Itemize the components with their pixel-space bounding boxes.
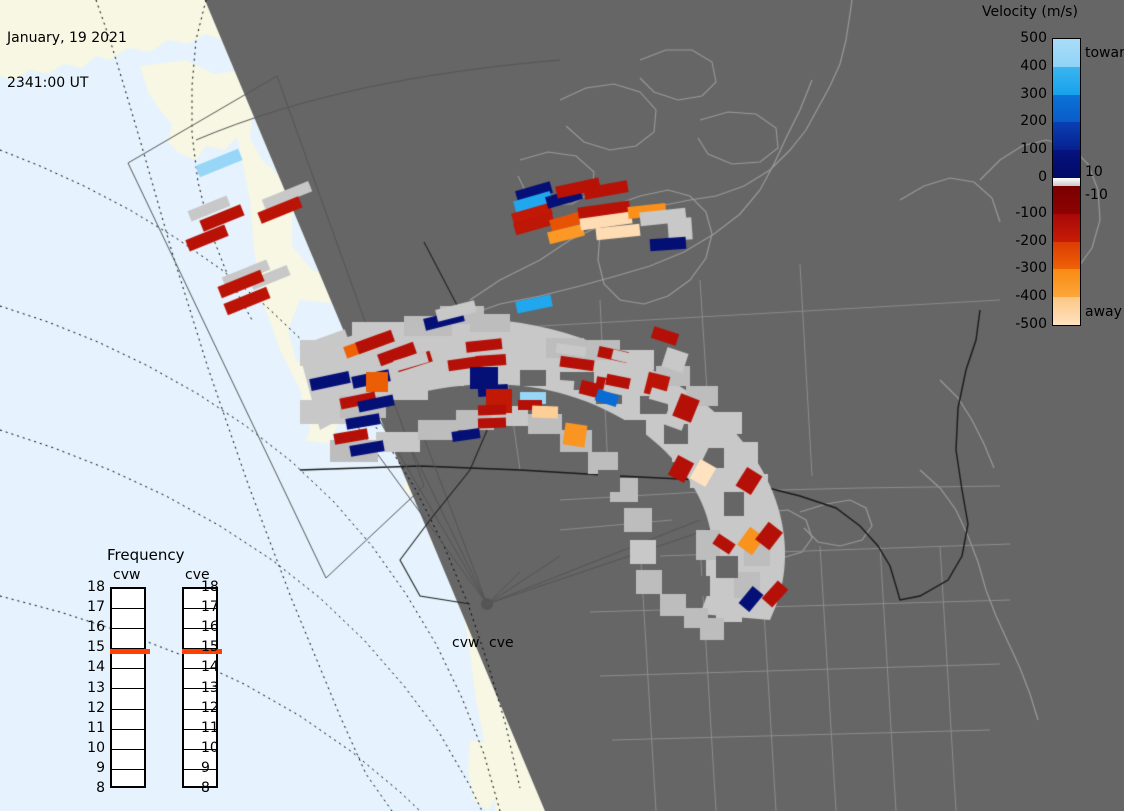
colorbar-band--400-to--300 — [1053, 269, 1080, 297]
frequency-cell — [112, 770, 144, 790]
frequency-tick-left-12: 12 — [87, 701, 105, 715]
colorbar-band-10-to-100 — [1053, 150, 1080, 178]
colorbar-tick-400: 400 — [989, 59, 1047, 73]
frequency-marker-cvw — [110, 649, 150, 654]
frequency-cell — [112, 730, 144, 750]
colorbar-tick-300: 300 — [989, 87, 1047, 101]
colorbar-tick-100: 100 — [989, 142, 1047, 156]
colorbar-band-400-to-500 — [1053, 39, 1080, 67]
colorbar-tick--400: -400 — [989, 289, 1047, 303]
frequency-cell — [112, 750, 144, 770]
colorbar-band-100-to-200 — [1053, 122, 1080, 150]
frequency-tick-right-18: 18 — [201, 580, 219, 594]
frequency-legend-title: Frequency — [107, 546, 185, 564]
frequency-tick-right-9: 9 — [201, 761, 210, 775]
frequency-legend: Frequency cvw cve 18171615141312111098 1… — [85, 546, 235, 781]
frequency-tick-right-14: 14 — [201, 660, 219, 674]
radar-site-label-cvw[interactable]: cvw — [452, 636, 479, 650]
frequency-tick-right-8: 8 — [201, 781, 210, 795]
frequency-cell — [112, 609, 144, 629]
frequency-cell — [184, 770, 216, 790]
colorbar-band-300-to-400 — [1053, 67, 1080, 95]
frequency-tick-right-13: 13 — [201, 681, 219, 695]
colorbar-band--500-to--400 — [1053, 297, 1080, 325]
colorbar-title: Velocity (m/s) — [982, 4, 1124, 20]
colorbar-tick--200: -200 — [989, 234, 1047, 248]
colorbar-tick--500: -500 — [989, 317, 1047, 331]
colorbar-band-200-to-300 — [1053, 95, 1080, 123]
frequency-cell — [112, 589, 144, 609]
timestamp-date: January, 19 2021 — [7, 31, 127, 46]
frequency-tick-right-11: 11 — [201, 721, 219, 735]
colorbar-positive-threshold-label: 10 — [1085, 165, 1103, 179]
frequency-cell — [112, 690, 144, 710]
frequency-cell — [112, 710, 144, 730]
frequency-tick-left-17: 17 — [87, 600, 105, 614]
frequency-tick-left-11: 11 — [87, 721, 105, 735]
frequency-tick-right-15: 15 — [201, 640, 219, 654]
frequency-tick-left-16: 16 — [87, 620, 105, 634]
radar-site-label-cve[interactable]: cve — [489, 636, 514, 650]
frequency-tick-left-13: 13 — [87, 681, 105, 695]
colorbar-tick--300: -300 — [989, 261, 1047, 275]
colorbar-band--10-to-10 — [1053, 178, 1080, 186]
colorbar-tick-200: 200 — [989, 114, 1047, 128]
frequency-tick-left-10: 10 — [87, 741, 105, 755]
frequency-tick-right-10: 10 — [201, 741, 219, 755]
frequency-cell — [112, 629, 144, 649]
colorbar-tick--100: -100 — [989, 206, 1047, 220]
colorbar-band--200-to--100 — [1053, 214, 1080, 242]
colorbar-tick-500: 500 — [989, 31, 1047, 45]
frequency-bar-cvw[interactable] — [110, 587, 146, 788]
frequency-cell — [112, 669, 144, 689]
frequency-tick-right-16: 16 — [201, 620, 219, 634]
timestamp-time: 2341:00 UT — [7, 76, 127, 91]
colorbar-strip — [1052, 38, 1081, 326]
colorbar-away-label: away — [1085, 305, 1122, 319]
frequency-tick-left-14: 14 — [87, 660, 105, 674]
velocity-colorbar: Velocity (m/s) 5004003002001000-100-200-… — [982, 2, 1124, 332]
frequency-tick-left-18: 18 — [87, 580, 105, 594]
frequency-tick-left-15: 15 — [87, 640, 105, 654]
superdarn-map-view: January, 19 2021 2341:00 UT Velocity (m/… — [0, 0, 1124, 811]
colorbar-tick-0: 0 — [989, 170, 1047, 184]
frequency-tick-right-17: 17 — [201, 600, 219, 614]
frequency-tick-left-8: 8 — [87, 781, 105, 795]
timestamp-overlay: January, 19 2021 2341:00 UT — [7, 1, 127, 121]
colorbar-toward-label: toward — [1085, 46, 1124, 60]
frequency-column-label-cvw: cvw — [113, 567, 140, 583]
colorbar-band--100-to--10 — [1053, 186, 1080, 214]
colorbar-band--300-to--200 — [1053, 242, 1080, 270]
colorbar-negative-threshold-label: -10 — [1085, 188, 1108, 202]
frequency-tick-right-12: 12 — [201, 701, 219, 715]
frequency-tick-left-9: 9 — [87, 761, 105, 775]
